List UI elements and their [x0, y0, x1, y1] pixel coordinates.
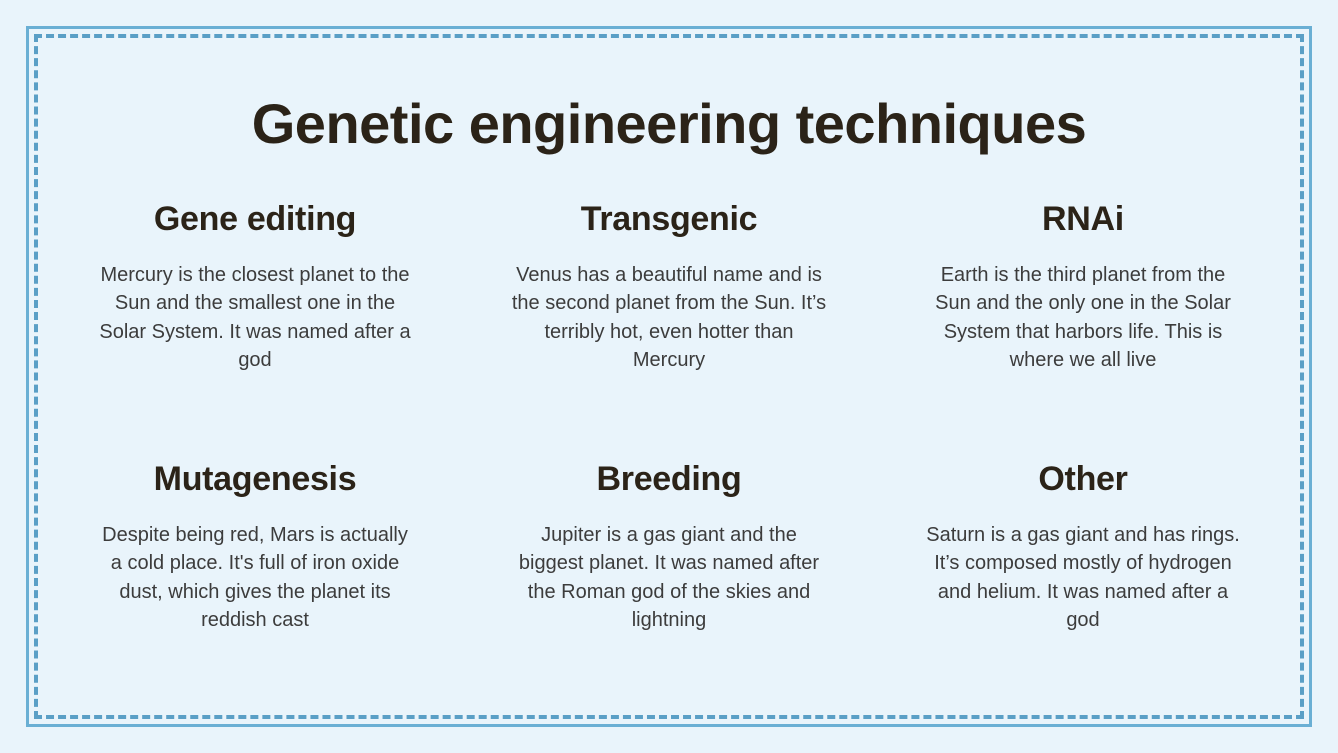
section-body: Saturn is a gas giant and has rings. It’…	[925, 521, 1241, 635]
section-body: Mercury is the closest planet to the Sun…	[97, 261, 413, 375]
section-heading: RNAi	[904, 200, 1262, 239]
section-rnai: RNAi Earth is the third planet from the …	[876, 200, 1290, 458]
section-body: Despite being red, Mars is actually a co…	[97, 521, 413, 635]
section-heading: Breeding	[490, 460, 848, 499]
section-heading: Transgenic	[490, 200, 848, 239]
section-heading: Gene editing	[76, 200, 434, 239]
section-heading: Mutagenesis	[76, 460, 434, 499]
section-gene-editing: Gene editing Mercury is the closest plan…	[48, 200, 462, 458]
section-body: Venus has a beautiful name and is the se…	[511, 261, 827, 375]
slide: Genetic engineering techniques Gene edit…	[0, 0, 1338, 753]
section-heading: Other	[904, 460, 1262, 499]
section-breeding: Breeding Jupiter is a gas giant and the …	[462, 458, 876, 716]
section-other: Other Saturn is a gas giant and has ring…	[876, 458, 1290, 716]
section-body: Jupiter is a gas giant and the biggest p…	[511, 521, 827, 635]
section-body: Earth is the third planet from the Sun a…	[925, 261, 1241, 375]
section-mutagenesis: Mutagenesis Despite being red, Mars is a…	[48, 458, 462, 716]
sections-grid: Gene editing Mercury is the closest plan…	[48, 200, 1290, 716]
slide-content: Genetic engineering techniques Gene edit…	[48, 48, 1290, 705]
page-title: Genetic engineering techniques	[48, 93, 1290, 155]
section-transgenic: Transgenic Venus has a beautiful name an…	[462, 200, 876, 458]
